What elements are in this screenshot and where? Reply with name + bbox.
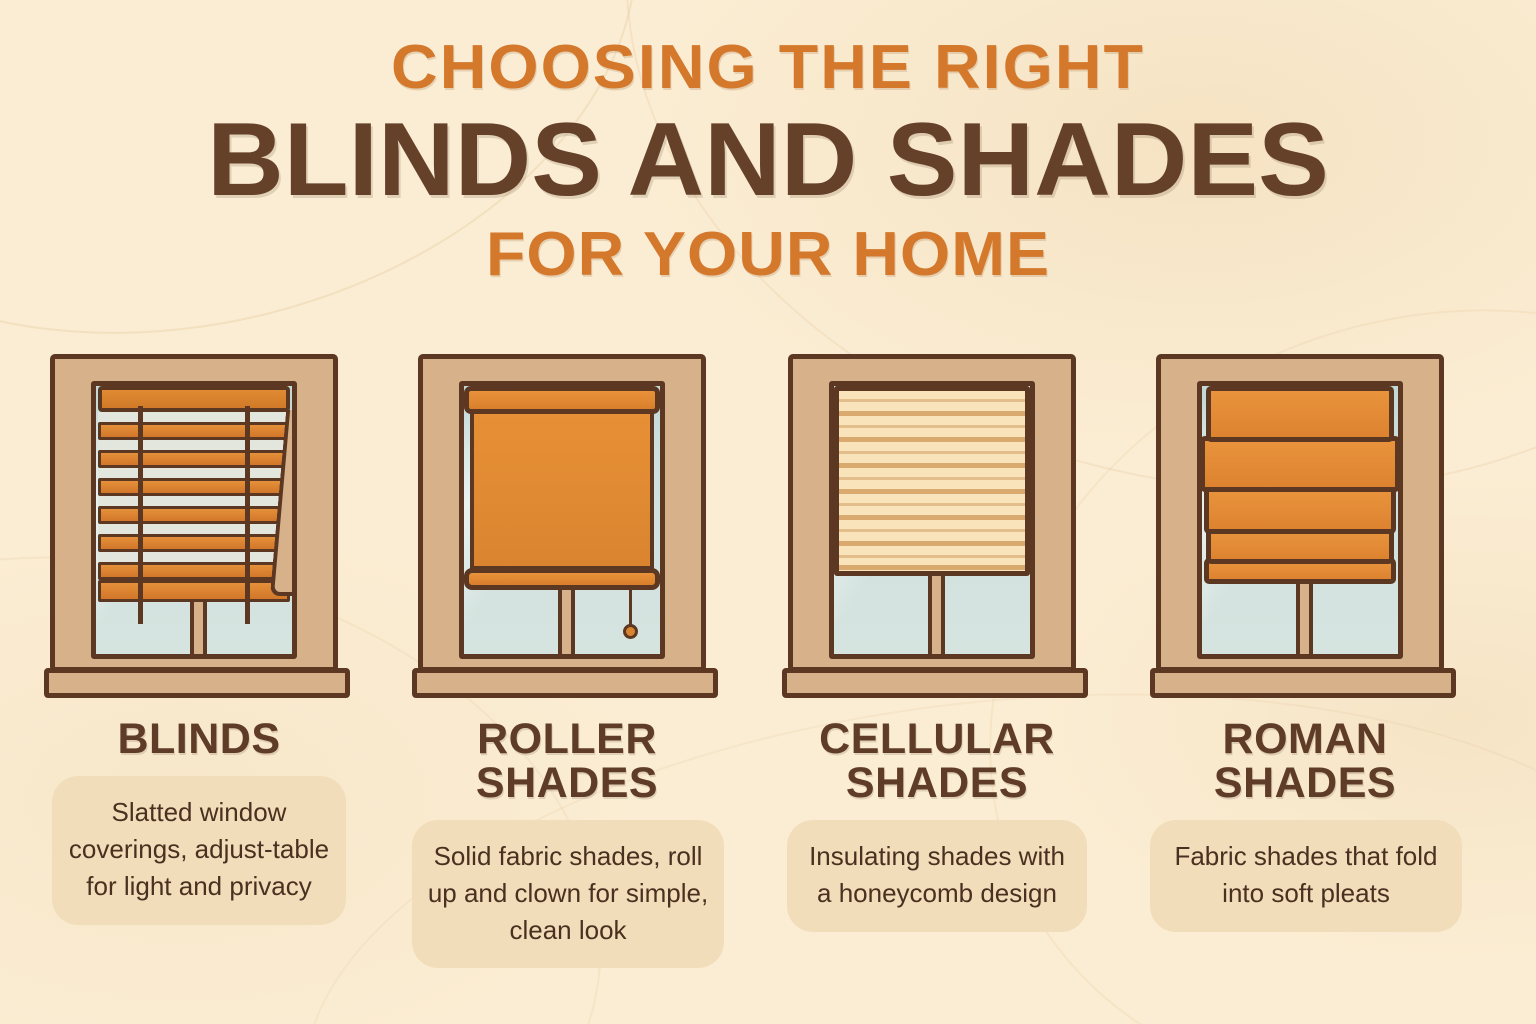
infographic-poster: CHOOSING THE RIGHT BLINDS AND SHADES FOR… — [0, 0, 1536, 1024]
blind-cord — [245, 406, 250, 624]
cellular-pleat-line — [839, 489, 1025, 494]
venetian-blinds — [96, 386, 292, 598]
title-line-sub: FOR YOUR HOME — [0, 223, 1536, 286]
cellular-pleat-line — [839, 463, 1025, 468]
cellular-pleat-line — [839, 529, 1025, 532]
cellular-pleat-line — [839, 399, 1025, 402]
poster-title-block: CHOOSING THE RIGHT BLINDS AND SHADES FOR… — [0, 36, 1536, 287]
category-column-roman-shades: ROMAN SHADES Fabric shades that fold int… — [1150, 352, 1460, 932]
window-sill — [412, 668, 718, 698]
cellular-pleat-line — [839, 477, 1025, 480]
category-caption-roller-shades: Solid fabric shades, roll up and clown f… — [412, 820, 724, 969]
roller-pull-cord — [629, 586, 632, 628]
roller-shade-fabric — [470, 412, 654, 570]
cellular-pleat-line — [839, 451, 1025, 454]
title-line-main: BLINDS AND SHADES — [0, 107, 1536, 213]
window-illustration-roller-shades — [412, 352, 718, 702]
category-column-cellular-shades: CELLULAR SHADES Insulating shades with a… — [782, 352, 1092, 932]
title-line-top: CHOOSING THE RIGHT — [0, 36, 1536, 99]
cellular-pleat-line — [839, 565, 1025, 570]
category-caption-roman-shades: Fabric shades that fold into soft pleats — [1150, 820, 1462, 932]
blind-bottomrail — [98, 580, 290, 602]
window-sill — [44, 668, 350, 698]
blind-slat-gap — [98, 552, 290, 562]
window-sill — [1150, 668, 1456, 698]
cellular-pleat-line — [839, 411, 1025, 416]
roman-shade-fold — [1200, 436, 1400, 492]
cellular-pleat-line — [839, 503, 1025, 506]
cellular-shade — [834, 386, 1030, 576]
window-illustration-cellular-shades — [782, 352, 1088, 702]
roller-shade-headrail — [464, 386, 660, 414]
window-inner-frame — [459, 381, 665, 659]
category-caption-cellular-shades: Insulating shades with a honeycomb desig… — [787, 820, 1087, 932]
cellular-pleat-line — [839, 437, 1025, 442]
blind-headrail — [98, 386, 290, 412]
blind-slat-gap — [98, 412, 290, 422]
blind-slat — [98, 562, 290, 580]
blind-slat — [98, 534, 290, 552]
cellular-pleat-line — [839, 555, 1025, 558]
blind-slat — [98, 506, 290, 524]
cellular-pleat-line — [839, 541, 1025, 546]
window-frame — [788, 354, 1076, 672]
window-frame — [1156, 354, 1444, 672]
category-caption-blinds: Slatted window coverings, adjust-table f… — [52, 776, 346, 925]
window-inner-frame — [91, 381, 297, 659]
blind-slat — [98, 450, 290, 468]
window-sill — [782, 668, 1088, 698]
window-inner-frame — [1197, 381, 1403, 659]
blind-slat-gap — [98, 524, 290, 534]
blind-cord — [138, 406, 143, 624]
roman-shade-fold — [1204, 486, 1396, 534]
window-illustration-roman-shades — [1150, 352, 1456, 702]
category-label-blinds: BLINDS — [44, 718, 354, 762]
cellular-pleat-line — [839, 425, 1025, 428]
blind-slat — [98, 422, 290, 440]
window-inner-frame — [829, 381, 1035, 659]
roman-shade-fold — [1206, 386, 1394, 442]
category-label-roller-shades: ROLLER SHADES — [412, 718, 722, 806]
category-column-roller-shades: ROLLER SHADES Solid fabric shades, roll … — [412, 352, 722, 968]
window-frame — [50, 354, 338, 672]
category-label-roman-shades: ROMAN SHADES — [1150, 718, 1460, 806]
category-label-cellular-shades: CELLULAR SHADES — [782, 718, 1092, 806]
blind-slat-gap — [98, 440, 290, 450]
window-illustration-blinds — [44, 352, 350, 702]
window-frame — [418, 354, 706, 672]
blind-slat-gap — [98, 496, 290, 506]
blind-slat-gap — [98, 468, 290, 478]
category-column-blinds: BLINDS Slatted window coverings, adjust-… — [44, 352, 354, 925]
blind-slat — [98, 478, 290, 496]
roller-pull-knob — [623, 624, 638, 639]
cellular-pleat-line — [839, 515, 1025, 520]
